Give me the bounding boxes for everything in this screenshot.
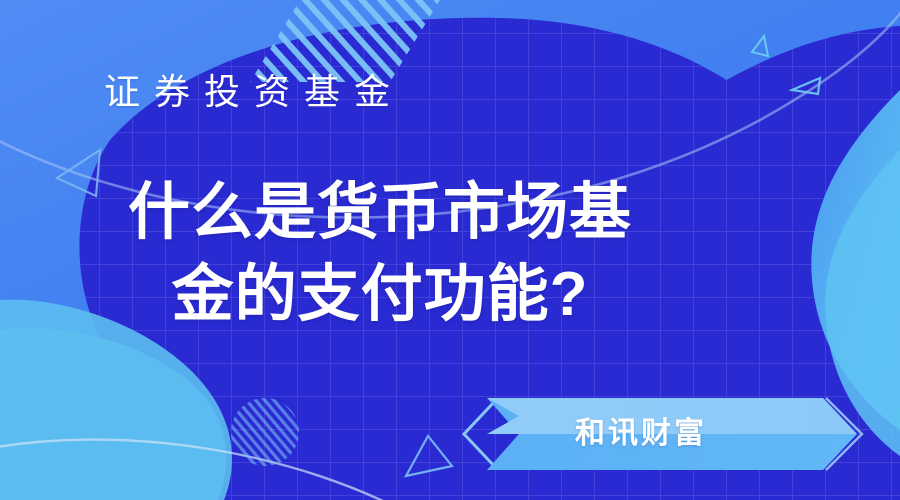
brand-banner: 和讯财富 [487,398,847,470]
poster-subtitle: 证券投资基金 [104,74,404,110]
poster-title: 什么是货币市场基 金的支付功能? [0,172,760,336]
poster-title-line-2: 金的支付功能? [0,254,760,336]
poster-canvas: 证券投资基金 什么是货币市场基 金的支付功能? 和讯财富 [0,0,900,500]
poster-title-line-1: 什么是货币市场基 [0,172,760,254]
brand-label: 和讯财富 [575,415,707,453]
text-layer: 证券投资基金 什么是货币市场基 金的支付功能? 和讯财富 [0,0,900,500]
